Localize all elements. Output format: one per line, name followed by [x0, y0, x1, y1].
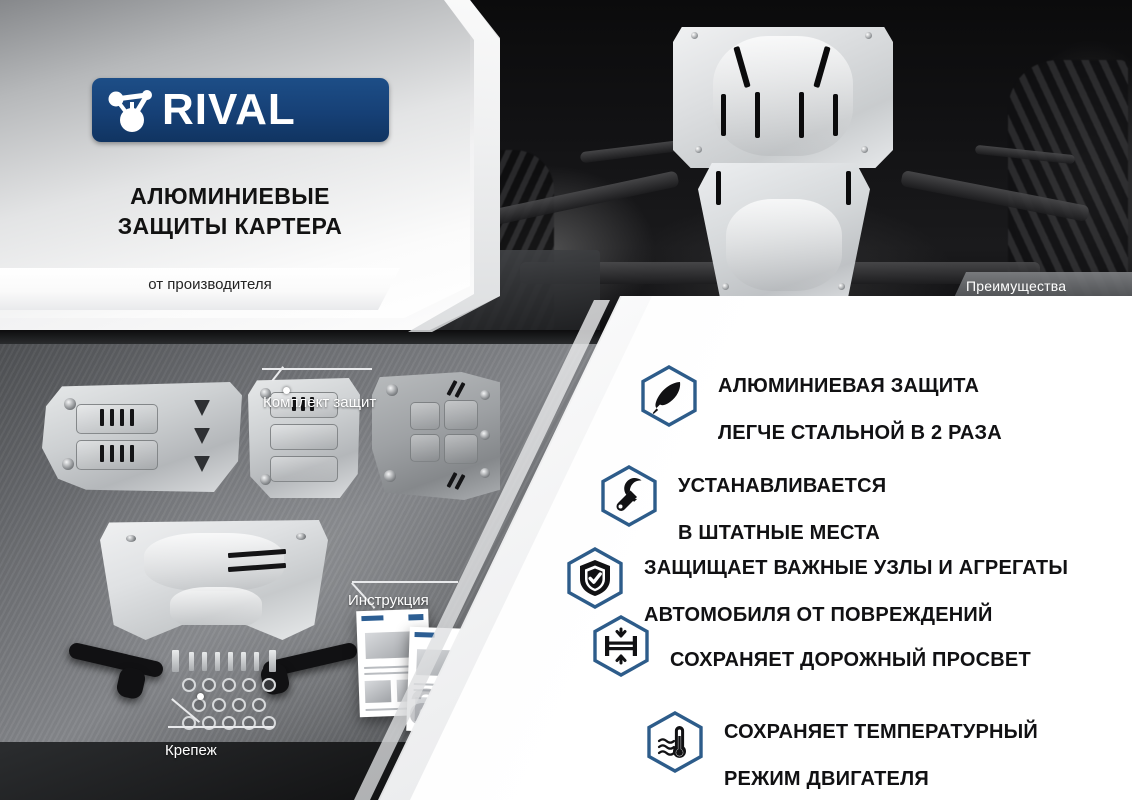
vent-slot	[716, 171, 721, 205]
callout-line-kit-h	[262, 368, 372, 370]
vent-slot	[846, 171, 851, 205]
vent-slot	[100, 409, 104, 426]
plate-inset	[76, 404, 158, 434]
washer	[222, 716, 236, 730]
vent-slot	[130, 409, 134, 426]
mount-bolt	[838, 283, 845, 290]
skid-plate-upper	[673, 18, 893, 168]
page-title: АЛЮМИНИЕВЫЕ ЗАЩИТЫ КАРТЕРА	[0, 182, 460, 242]
washer	[202, 678, 216, 692]
washer	[212, 698, 226, 712]
bolt	[254, 652, 259, 671]
washer	[242, 716, 256, 730]
vent-slot	[755, 92, 760, 138]
plate-inset	[76, 440, 158, 470]
notch	[194, 428, 210, 444]
mount-hole	[64, 398, 76, 410]
vent-slot	[799, 92, 804, 138]
plate-inset	[270, 456, 338, 482]
feature-item-3: ЗАЩИЩАЕТ ВАЖНЫЕ УЗЛЫ И АГРЕГАТЫ АВТОМОБИ…	[566, 534, 1068, 627]
feature-line-5a: СОХРАНЯЕТ ТЕМПЕРАТУРНЫЙ	[724, 721, 1038, 743]
callout-dot-fasteners	[197, 693, 204, 700]
plate-inset	[444, 400, 478, 430]
feature-line-1b: ЛЕГЧЕ СТАЛЬНОЙ В 2 РАЗА	[718, 422, 1002, 444]
mount-bolt	[695, 146, 702, 153]
vent-slot	[110, 409, 114, 426]
guard-plate-1	[42, 382, 242, 492]
page-title-line2: ЗАЩИТЫ КАРТЕРА	[118, 213, 343, 239]
bolt	[269, 650, 276, 672]
clearance-arrows-icon	[592, 614, 650, 683]
thermometer-icon	[646, 710, 704, 779]
washer	[262, 678, 276, 692]
feature-text-5: СОХРАНЯЕТ ТЕМПЕРАТУРНЫЙ РЕЖИМ ДВИГАТЕЛЯ	[724, 698, 1038, 791]
feature-item-1: АЛЮМИНИЕВАЯ ЗАЩИТА ЛЕГЧЕ СТАЛЬНОЙ В 2 РА…	[640, 352, 1002, 445]
plate-emboss	[726, 199, 842, 291]
sheet-diagram	[365, 680, 392, 703]
vent-slot	[120, 445, 124, 462]
washer	[192, 698, 206, 712]
advantages-tab-label: Преимущества	[966, 278, 1126, 294]
plate-emboss	[144, 533, 284, 591]
mount-hole	[480, 390, 490, 400]
washer	[242, 678, 256, 692]
feature-text-4: СОХРАНЯЕТ ДОРОЖНЫЙ ПРОСВЕТ	[670, 625, 1031, 671]
plate-emboss	[170, 587, 262, 629]
mount-hole	[126, 535, 136, 542]
sheet-header-bar	[414, 632, 434, 638]
feature-line-4a: СОХРАНЯЕТ ДОРОЖНЫЙ ПРОСВЕТ	[670, 649, 1031, 671]
notch	[194, 400, 210, 416]
vent-slot	[721, 94, 726, 136]
mount-hole	[480, 430, 490, 440]
feature-text-1: АЛЮМИНИЕВАЯ ЗАЩИТА ЛЕГЧЕ СТАЛЬНОЙ В 2 РА…	[718, 352, 1002, 445]
mount-hole	[260, 474, 271, 485]
callout-label-instruction: Инструкция	[348, 592, 429, 609]
molecule-icon	[102, 86, 160, 134]
mount-bolt	[861, 146, 868, 153]
bolt	[228, 652, 233, 671]
callout-line-fast-h	[168, 726, 274, 728]
callout-line-instr-h	[352, 581, 458, 583]
page-title-line1: АЛЮМИНИЕВЫЕ	[130, 183, 330, 209]
plate-inset	[444, 434, 478, 464]
washer	[182, 678, 196, 692]
washer	[252, 698, 266, 712]
plate-emboss	[713, 36, 853, 156]
panel-top-shadow	[0, 330, 640, 344]
feature-text-3: ЗАЩИЩАЕТ ВАЖНЫЕ УЗЛЫ И АГРЕГАТЫ АВТОМОБИ…	[644, 534, 1068, 627]
washer	[262, 716, 276, 730]
rival-logo-text: RIVAL	[162, 88, 296, 132]
mount-hole	[62, 458, 74, 470]
vent-slot	[130, 445, 134, 462]
feature-line-2a: УСТАНАВЛИВАЕТСЯ	[678, 475, 886, 497]
rival-logo: RIVAL	[92, 78, 389, 142]
subtitle-text: от производителя	[0, 276, 420, 293]
bolt	[172, 650, 179, 672]
mount-hole	[384, 470, 396, 482]
plate-inset	[270, 424, 338, 450]
mount-hole	[480, 468, 490, 478]
vent-slot	[110, 445, 114, 462]
bolt	[189, 652, 194, 671]
feature-line-5b: РЕЖИМ ДВИГАТЕЛЯ	[724, 768, 929, 790]
vent-slot	[100, 445, 104, 462]
sheet-text-line	[364, 671, 412, 675]
bolt	[241, 652, 246, 671]
feather-icon	[640, 364, 698, 433]
feature-line-3a: ЗАЩИЩАЕТ ВАЖНЫЕ УЗЛЫ И АГРЕГАТЫ	[644, 557, 1068, 579]
feature-line-1a: АЛЮМИНИЕВАЯ ЗАЩИТА	[718, 375, 979, 397]
vent-slot	[833, 94, 838, 136]
vent-slot	[120, 409, 124, 426]
mount-hole	[296, 533, 306, 540]
main-engine-guard	[100, 515, 328, 640]
feature-item-4: СОХРАНЯЕТ ДОРОЖНЫЙ ПРОСВЕТ	[592, 614, 1031, 683]
plate-inset	[410, 402, 440, 430]
mount-hole	[386, 384, 398, 396]
callout-label-fasteners: Крепеж	[165, 742, 217, 759]
bolt	[202, 652, 207, 671]
guard-plate-3	[372, 372, 500, 500]
shield-check-icon	[566, 546, 624, 615]
washer	[202, 716, 216, 730]
washer	[222, 678, 236, 692]
promo-banner: Преимущества	[0, 0, 1132, 800]
washer	[232, 698, 246, 712]
feature-item-2: УСТАНАВЛИВАЕТСЯ В ШТАТНЫЕ МЕСТА	[600, 452, 886, 545]
mount-bolt	[691, 32, 698, 39]
skid-plate-lower	[698, 163, 870, 308]
bolt	[215, 652, 220, 671]
sheet-logo	[408, 614, 423, 621]
feature-item-5: СОХРАНЯЕТ ТЕМПЕРАТУРНЫЙ РЕЖИМ ДВИГАТЕЛЯ	[646, 698, 1038, 791]
wrench-icon	[600, 464, 658, 533]
sheet-header-bar	[361, 615, 383, 621]
callout-label-kit: Комплект защит	[263, 394, 376, 411]
mount-bolt	[865, 32, 872, 39]
mount-bolt	[722, 283, 729, 290]
plate-inset	[410, 434, 440, 462]
feature-text-2: УСТАНАВЛИВАЕТСЯ В ШТАТНЫЕ МЕСТА	[678, 452, 886, 545]
notch	[194, 456, 210, 472]
callout-dot-kit	[283, 387, 290, 394]
